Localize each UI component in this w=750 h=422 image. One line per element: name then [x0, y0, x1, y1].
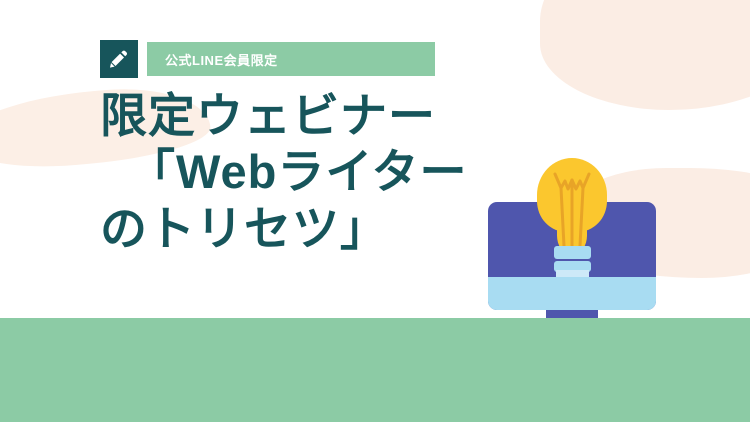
bottom-question-band: Q1.ライター未経験者が文章力を上げるには？ [0, 318, 750, 422]
badge: 公式LINE会員限定 [100, 40, 435, 78]
lightbulb-filament-icon [537, 172, 607, 254]
monitor-lightbulb-illustration [480, 150, 680, 340]
badge-icon-box [100, 40, 138, 78]
monitor-chin [488, 277, 656, 310]
title-line-3: のトリセツ」 [0, 201, 470, 257]
decor-blob-top-right [540, 0, 750, 110]
title-line-1: 限定ウェビナー [0, 88, 470, 144]
title-line-2: 「Webライター [0, 144, 470, 200]
pen-icon [107, 47, 131, 71]
lightbulb-base-band-top [554, 246, 591, 259]
webinar-banner: 公式LINE会員限定 限定ウェビナー 「Webライター のトリセツ」 Q1.ライ… [0, 0, 750, 422]
badge-bar: 公式LINE会員限定 [147, 42, 435, 76]
badge-label: 公式LINE会員限定 [165, 50, 278, 69]
page-title: 限定ウェビナー 「Webライター のトリセツ」 [0, 88, 470, 257]
